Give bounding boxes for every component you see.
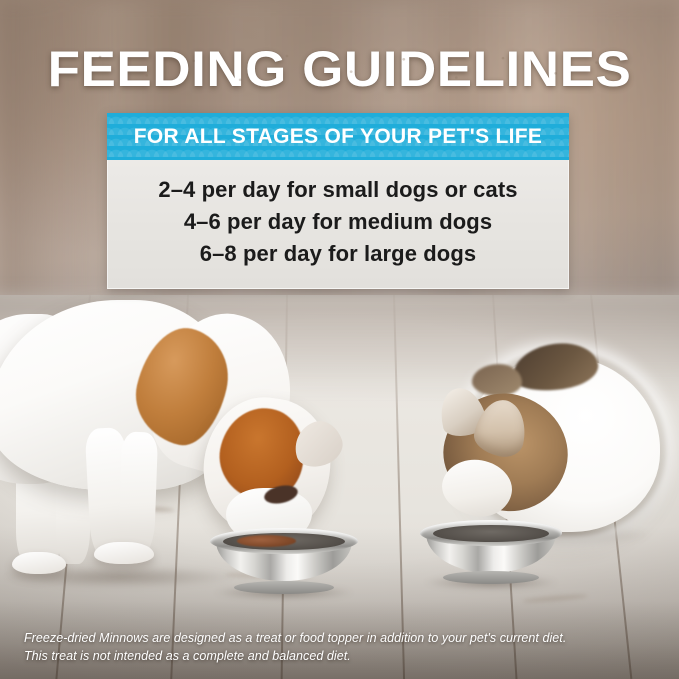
guideline-row: 4–6 per day for medium dogs: [118, 206, 558, 238]
bowl-interior: [433, 525, 549, 542]
dog-paw: [94, 542, 154, 564]
guideline-row: 2–4 per day for small dogs or cats: [118, 174, 558, 206]
page-title: FEEDING GUIDELINES: [0, 42, 679, 96]
disclaimer-line-1: Freeze-dried Minnows are designed as a t…: [24, 629, 661, 647]
dog-leg: [118, 431, 158, 554]
cat-side-patch: [472, 364, 522, 396]
bowl-food: [237, 535, 296, 547]
card-banner-label: FOR ALL STAGES OF YOUR PET'S LIFE: [107, 113, 569, 160]
card-body: 2–4 per day for small dogs or cats 4–6 p…: [107, 160, 569, 289]
dog-paw: [12, 552, 66, 574]
feeding-guidelines-graphic: FEEDING GUIDELINES FOR ALL STAGES OF YOU…: [0, 0, 679, 679]
bowl-base: [234, 581, 335, 594]
feeding-guidelines-card: FOR ALL STAGES OF YOUR PET'S LIFE 2–4 pe…: [107, 113, 569, 289]
disclaimer: Freeze-dried Minnows are designed as a t…: [24, 629, 661, 665]
cat-food-bowl: [420, 520, 562, 580]
card-banner: FOR ALL STAGES OF YOUR PET'S LIFE: [107, 113, 569, 160]
bowl-base: [443, 571, 540, 584]
page-title-text: FEEDING GUIDELINES: [48, 42, 632, 96]
disclaimer-line-2: This treat is not intended as a complete…: [24, 647, 661, 665]
guideline-row: 6–8 per day for large dogs: [118, 238, 558, 270]
dog-food-bowl: [210, 528, 358, 590]
